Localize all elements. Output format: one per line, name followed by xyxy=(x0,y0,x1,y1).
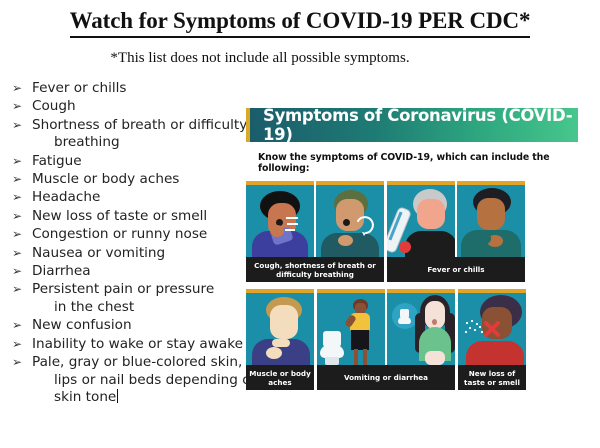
arrow-bullet-icon: ➢ xyxy=(12,263,22,280)
panel-caption: Muscle or body aches xyxy=(246,365,314,390)
page-subtitle: *This list does not include all possible… xyxy=(0,50,520,67)
list-item-label: Persistent pain or pressure xyxy=(32,281,266,298)
list-item-label: New confusion xyxy=(32,317,266,334)
list-item-label: Nausea or vomiting xyxy=(32,245,266,262)
arrow-bullet-icon: ➢ xyxy=(12,189,22,206)
slide-canvas: Watch for Symptoms of COVID-19 PER CDC* … xyxy=(0,0,600,448)
arrow-bullet-icon: ➢ xyxy=(12,336,22,353)
panel-caption: New loss of taste or smell xyxy=(458,365,526,390)
panel-caption: Cough, shortness of breath or difficulty… xyxy=(246,257,384,282)
illustration-panel-shortness-of-breath xyxy=(316,181,384,257)
list-item: ➢ New loss of taste or smell xyxy=(8,208,266,225)
list-item-label: Muscle or body aches xyxy=(32,171,266,188)
list-item-label: Diarrhea xyxy=(32,263,266,280)
symptom-list: ➢ Fever or chills ➢ Cough ➢ Shortness of… xyxy=(8,80,266,407)
list-item-continuation: lips or nail beds depending on xyxy=(32,372,266,389)
arrow-bullet-icon: ➢ xyxy=(12,226,22,243)
arrow-bullet-icon: ➢ xyxy=(12,317,22,334)
infographic-group: Cough, shortness of breath or difficulty… xyxy=(246,181,384,282)
infographic-group: New loss of taste or smell xyxy=(458,289,526,390)
list-item: ➢ Fatigue xyxy=(8,153,266,170)
infographic-row: Muscle or body aches xyxy=(246,289,578,390)
arrow-bullet-icon: ➢ xyxy=(12,281,22,298)
infographic-title: Symptoms of Coronavirus (COVID-19) xyxy=(250,106,578,144)
text-cursor xyxy=(117,389,118,403)
list-item: ➢ Congestion or runny nose xyxy=(8,226,266,243)
page-title-text: Watch for Symptoms of COVID-19 PER CDC* xyxy=(70,8,531,38)
cdc-infographic: Symptoms of Coronavirus (COVID-19) Know … xyxy=(246,108,578,390)
list-item: ➢ Fever or chills xyxy=(8,80,266,97)
illustration-panel-cough xyxy=(246,181,314,257)
arrow-bullet-icon: ➢ xyxy=(12,117,22,134)
list-item-label: Cough xyxy=(32,98,266,115)
arrow-bullet-icon: ➢ xyxy=(12,153,22,170)
infographic-row: Cough, shortness of breath or difficulty… xyxy=(246,181,578,282)
panel-strip xyxy=(246,289,314,365)
illustration-panel-loss-of-taste-smell xyxy=(458,289,526,365)
illustration-panel-diarrhea xyxy=(387,289,455,365)
panel-caption: Vomiting or diarrhea xyxy=(317,365,455,390)
list-item: ➢ Cough xyxy=(8,98,266,115)
panel-strip xyxy=(317,289,455,365)
list-item-label: Shortness of breath or difficulty xyxy=(32,117,266,134)
list-item: ➢ Shortness of breath or difficulty brea… xyxy=(8,117,266,152)
breath-swirl-icon xyxy=(354,215,376,237)
list-item: ➢ Inability to wake or stay awake xyxy=(8,336,266,353)
list-item-label: Congestion or runny nose xyxy=(32,226,266,243)
panel-strip xyxy=(458,289,526,365)
arrow-bullet-icon: ➢ xyxy=(12,98,22,115)
panel-caption: Fever or chills xyxy=(387,257,525,282)
illustration-panel-chills xyxy=(457,181,525,257)
arrow-bullet-icon: ➢ xyxy=(12,171,22,188)
list-item: ➢ Pale, gray or blue-colored skin, lips … xyxy=(8,354,266,406)
list-item-continuation: breathing xyxy=(32,134,266,151)
list-item-label: Fever or chills xyxy=(32,80,266,97)
list-item-continuation: skin tone xyxy=(32,389,266,406)
infographic-group: Muscle or body aches xyxy=(246,289,314,390)
list-item-label: Inability to wake or stay awake xyxy=(32,336,266,353)
list-item: ➢ Headache xyxy=(8,189,266,206)
list-item-label: Fatigue xyxy=(32,153,266,170)
list-item-continuation: in the chest xyxy=(32,299,266,316)
illustration-panel-vomiting xyxy=(317,289,385,365)
red-x-icon xyxy=(484,321,500,337)
list-item: ➢ Nausea or vomiting xyxy=(8,245,266,262)
header-gradient-bar: Symptoms of Coronavirus (COVID-19) xyxy=(250,108,578,142)
list-item: ➢ Persistent pain or pressure in the che… xyxy=(8,281,266,316)
list-item: ➢ New confusion xyxy=(8,317,266,334)
list-item-label: New loss of taste or smell xyxy=(32,208,266,225)
arrow-bullet-icon: ➢ xyxy=(12,245,22,262)
page-title: Watch for Symptoms of COVID-19 PER CDC* xyxy=(0,8,600,38)
list-item: ➢ Muscle or body aches xyxy=(8,171,266,188)
list-item-continuation-text: skin tone xyxy=(54,389,116,405)
infographic-intro: Know the symptoms of COVID-19, which can… xyxy=(246,152,578,174)
arrow-bullet-icon: ➢ xyxy=(12,354,22,371)
infographic-group: Fever or chills xyxy=(387,181,525,282)
list-item: ➢ Diarrhea xyxy=(8,263,266,280)
panel-strip xyxy=(246,181,384,257)
list-item-label: Pale, gray or blue-colored skin, xyxy=(32,354,266,371)
illustration-panel-muscle-aches xyxy=(246,289,314,365)
infographic-group: Vomiting or diarrhea xyxy=(317,289,455,390)
panel-strip xyxy=(387,181,525,257)
arrow-bullet-icon: ➢ xyxy=(12,80,22,97)
list-item-label: Headache xyxy=(32,189,266,206)
arrow-bullet-icon: ➢ xyxy=(12,208,22,225)
illustration-panel-fever xyxy=(387,181,455,257)
infographic-header: Symptoms of Coronavirus (COVID-19) xyxy=(246,108,578,142)
